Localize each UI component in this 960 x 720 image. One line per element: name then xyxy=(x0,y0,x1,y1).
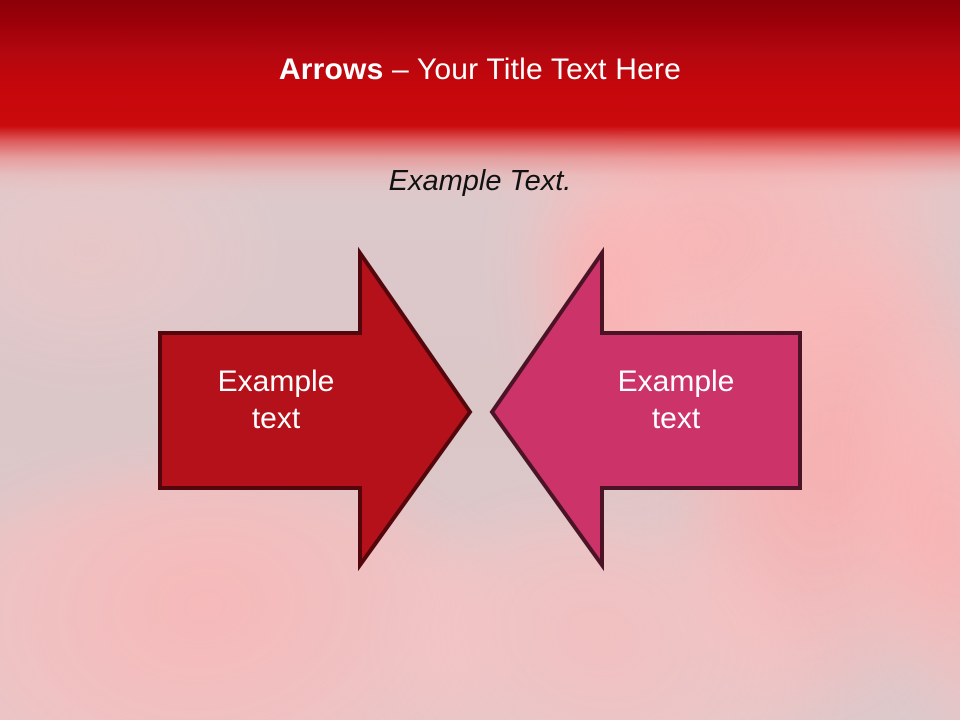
arrows-diagram xyxy=(0,0,960,720)
left-arrow-label: Example text xyxy=(176,363,376,437)
right-arrow-label: Example text xyxy=(576,363,776,437)
slide-canvas: Arrows – Your Title Text Here Example Te… xyxy=(0,0,960,720)
